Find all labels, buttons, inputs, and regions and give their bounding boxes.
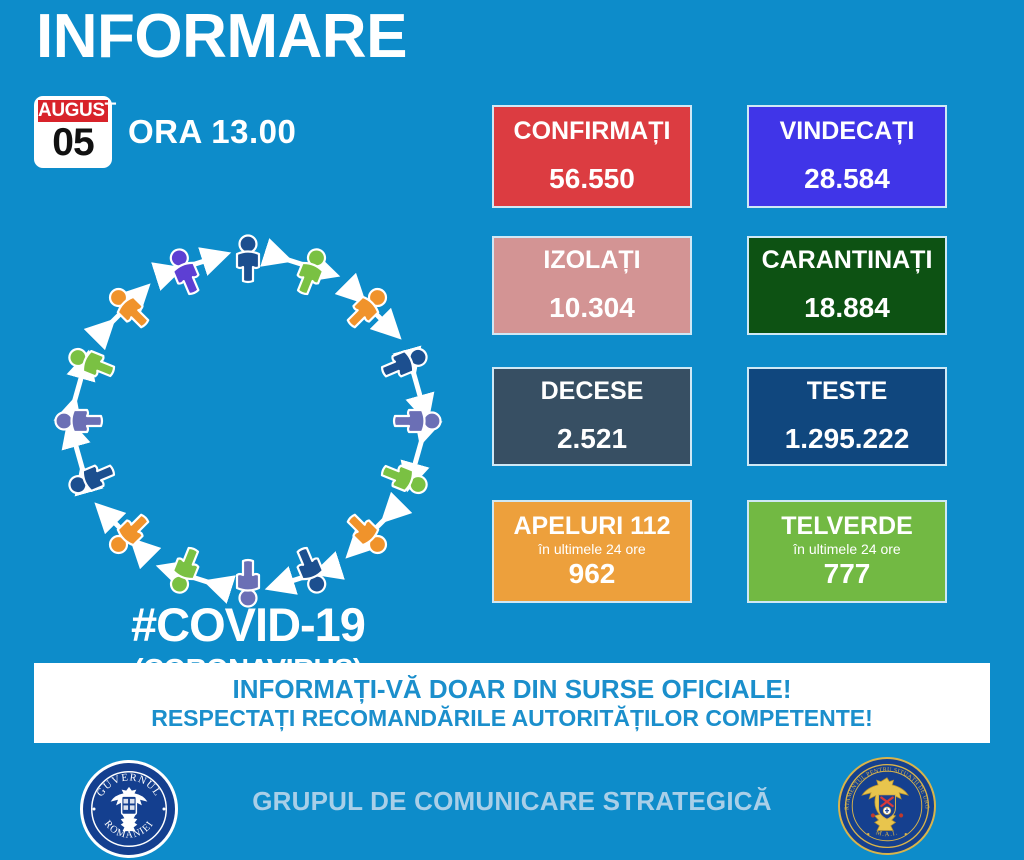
stat-box-teste: TESTE 1.295.222 xyxy=(747,367,947,466)
stat-box-vindecati: VINDECAȚI 28.584 xyxy=(747,105,947,208)
time-label: ORA 13.00 xyxy=(128,113,296,151)
stat-box-carantinati: CARANTINAȚI 18.884 xyxy=(747,236,947,335)
stat-label: TELVERDE xyxy=(781,513,913,541)
stat-label: IZOLAȚI xyxy=(543,247,640,275)
calendar-icon: AUGUST 05 xyxy=(34,96,112,168)
banner-line-1: INFORMAȚI-VĂ DOAR DIN SURSE OFICIALE! xyxy=(233,675,792,705)
stat-label: TESTE xyxy=(807,378,888,406)
stat-value: 2.521 xyxy=(557,424,627,455)
stat-box-confirmati: CONFIRMAȚI 56.550 xyxy=(492,105,692,208)
stat-label: VINDECAȚI xyxy=(780,118,915,146)
stat-box-telverde: TELVERDE în ultimele 24 ore 777 xyxy=(747,500,947,603)
social-distancing-circle-icon: #COVID-19 (CORONAVIRUS) xyxy=(38,222,458,620)
date-row: AUGUST 05 ORA 13.00 xyxy=(34,96,296,168)
stat-value: 18.884 xyxy=(804,293,890,324)
banner-line-2: RESPECTAȚI RECOMANDĂRILE AUTORITĂȚILOR C… xyxy=(151,705,873,731)
stat-label: CONFIRMAȚI xyxy=(514,118,671,146)
stat-value: 28.584 xyxy=(804,164,890,195)
calendar-month-label: AUGUST xyxy=(38,100,108,122)
stat-note: în ultimele 24 ore xyxy=(538,541,645,558)
covid-hashtag-label: #COVID-19 xyxy=(38,597,458,652)
stat-value: 10.304 xyxy=(549,293,635,324)
stat-label: CARANTINAȚI xyxy=(762,247,933,275)
departamentul-situatii-urgenta-seal: DEPARTAMENTUL PENTRU SITUAȚII DE URGENȚĂ… xyxy=(838,757,936,855)
stat-box-izolati: IZOLAȚI 10.304 xyxy=(492,236,692,335)
stat-value: 1.295.222 xyxy=(785,424,910,455)
calendar-day-label: 05 xyxy=(38,122,108,164)
stat-value: 962 xyxy=(569,559,616,590)
page-title: INFORMARE xyxy=(36,6,407,68)
stat-label: APELURI 112 xyxy=(513,513,670,541)
stat-label: DECESE xyxy=(541,378,644,406)
stat-box-decese: DECESE 2.521 xyxy=(492,367,692,466)
stat-box-apeluri-112: APELURI 112 în ultimele 24 ore 962 xyxy=(492,500,692,603)
stat-value: 56.550 xyxy=(549,164,635,195)
official-sources-banner: INFORMAȚI-VĂ DOAR DIN SURSE OFICIALE! RE… xyxy=(34,663,990,743)
stat-value: 777 xyxy=(824,559,871,590)
stat-note: în ultimele 24 ore xyxy=(793,541,900,558)
